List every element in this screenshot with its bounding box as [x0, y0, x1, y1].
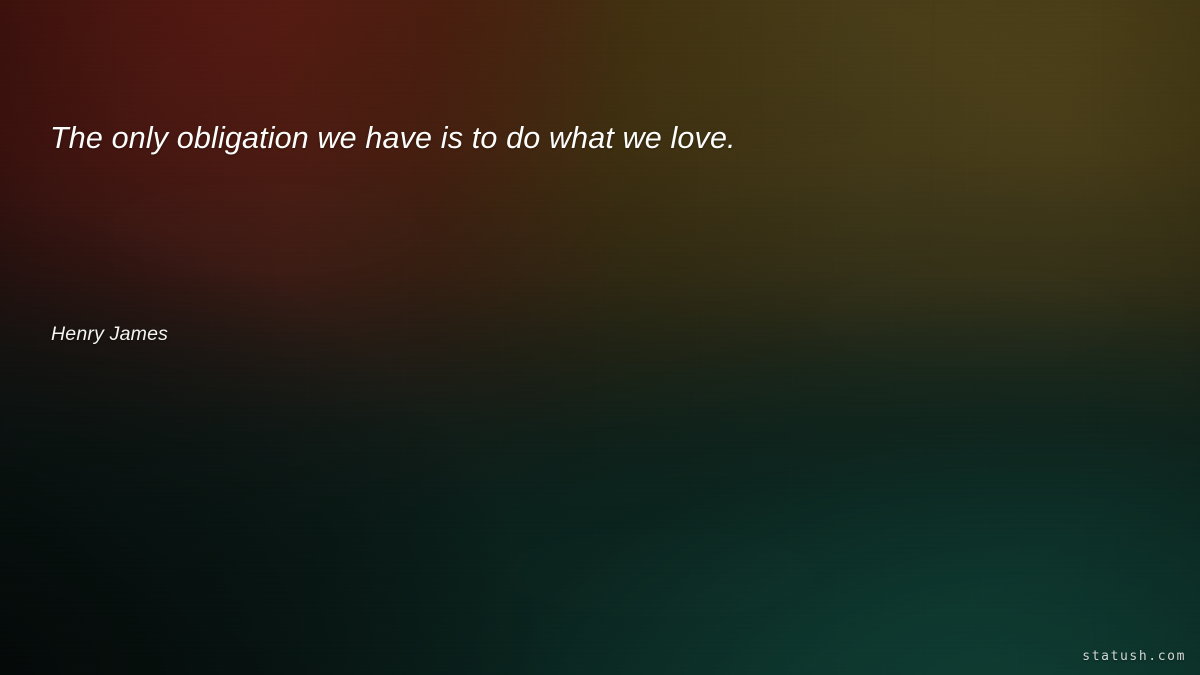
quote-text: The only obligation we have is to do wha…: [50, 118, 1130, 158]
quote-card: The only obligation we have is to do wha…: [0, 0, 1200, 675]
quote-author: Henry James: [51, 321, 168, 347]
background-scratch-texture: [0, 0, 1200, 675]
background-red-bloom: [0, 0, 1200, 675]
watermark-site-label: statush.com: [1082, 649, 1186, 665]
background-mottle-texture: [0, 0, 1200, 675]
background-vignette: [0, 0, 1200, 675]
background-grain-texture: [0, 0, 1200, 675]
background-vertical-fade: [0, 0, 1200, 675]
background-warm-gradient: [0, 0, 1200, 675]
background-teal-glow: [0, 0, 1200, 675]
background-dark-corner: [0, 0, 1200, 675]
background-gold-bloom: [0, 0, 1200, 675]
